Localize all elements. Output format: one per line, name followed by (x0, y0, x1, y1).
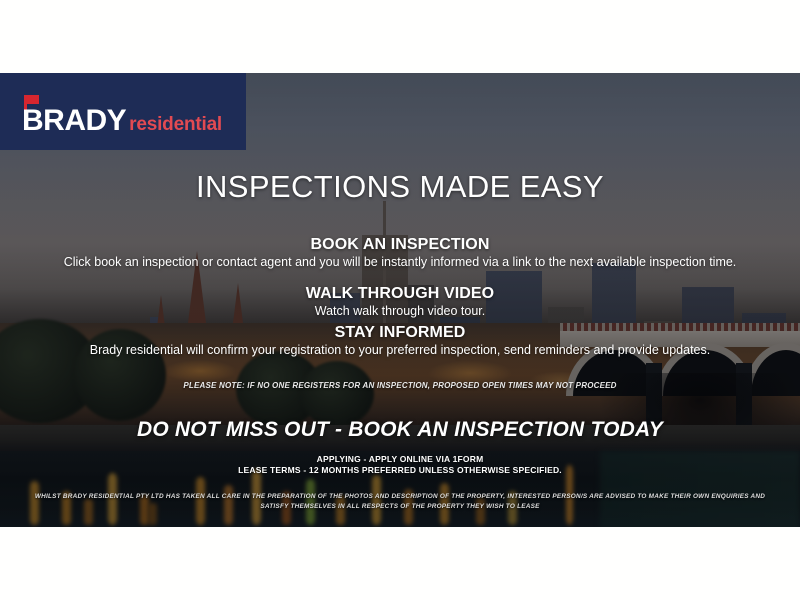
section-body-walk-through-video: Watch walk through video tour. (0, 303, 800, 320)
please-note-text: PLEASE NOTE: IF NO ONE REGISTERS FOR AN … (0, 381, 800, 390)
section-body-book-an-inspection: Click book an inspection or contact agen… (0, 254, 800, 271)
brady-residential-logo[interactable]: BRADY residential (0, 73, 246, 150)
legal-disclaimer-text: WHILST BRADY RESIDENTIAL PTY LTD HAS TAK… (0, 492, 800, 512)
applying-info-text: APPLYING - APPLY ONLINE VIA 1FORM (0, 454, 800, 464)
section-heading-book-an-inspection: BOOK AN INSPECTION (0, 236, 800, 254)
call-to-action-text: DO NOT MISS OUT - BOOK AN INSPECTION TOD… (0, 418, 800, 442)
page-root: BRADY residential INSPECTIONS MADE EASY … (0, 0, 800, 600)
lease-terms-text: LEASE TERMS - 12 MONTHS PREFERRED UNLESS… (0, 465, 800, 475)
red-flag-icon (24, 95, 39, 104)
section-heading-walk-through-video: WALK THROUGH VIDEO (0, 285, 800, 303)
page-title: INSPECTIONS MADE EASY (0, 169, 800, 205)
section-heading-stay-informed: STAY INFORMED (0, 324, 800, 342)
logo-brand-text: BRADY (22, 106, 126, 136)
logo-suffix-text: residential (129, 115, 222, 134)
section-body-stay-informed: Brady residential will confirm your regi… (0, 342, 800, 359)
hero-banner-image: BRADY residential INSPECTIONS MADE EASY … (0, 73, 800, 527)
